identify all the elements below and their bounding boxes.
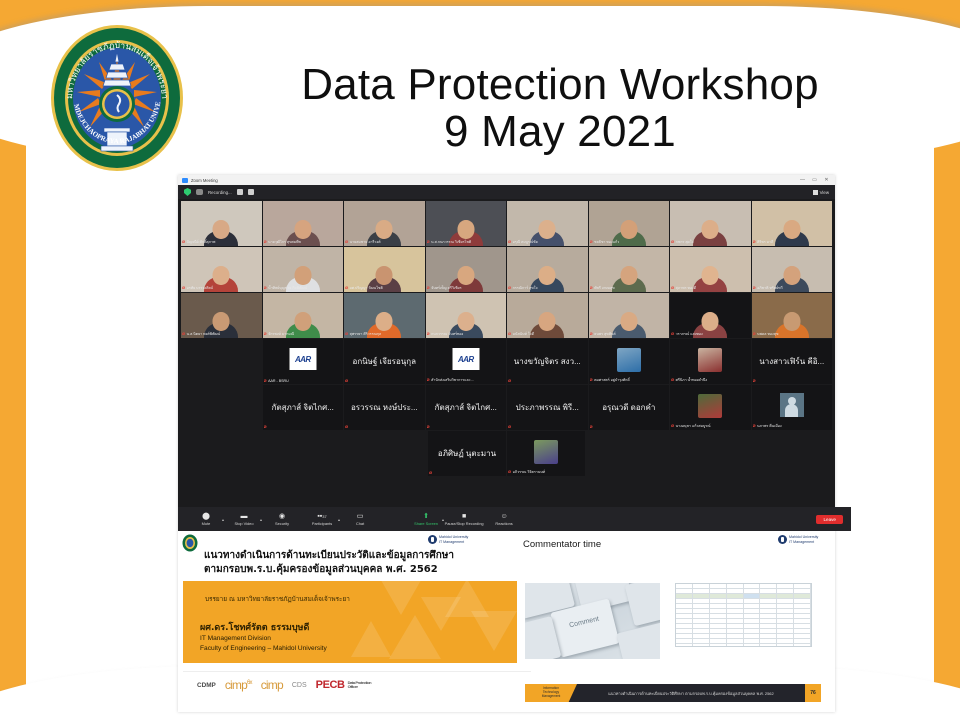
participant-name-label: Øสุพรรษา ศิริวรรณกุล — [345, 331, 424, 337]
participant-name-label: Øปัญจนีย์ ศักดิ์สุภาพ — [182, 239, 261, 245]
spreadsheet-cell — [676, 629, 693, 633]
spreadsheet-cell — [727, 619, 744, 623]
participant-name-text: สุภาพร ทองดี — [676, 285, 697, 291]
muted-microphone-icon: Ø — [753, 240, 756, 244]
participant-name-label: Øนางอนุชา แก้วสมบูรณ์ — [671, 423, 750, 429]
participant-name-label: Ø — [264, 425, 343, 429]
participant-tile[interactable]: Øนางอนุชา แก้วสมบูรณ์ — [670, 385, 751, 430]
spreadsheet-cell — [777, 599, 794, 603]
participant-name-label: Ø — [429, 471, 505, 475]
participant-head — [702, 220, 719, 239]
participant-head — [702, 266, 719, 285]
spreadsheet-cell — [794, 594, 811, 598]
spreadsheet-cell — [710, 619, 727, 623]
participant-head — [457, 220, 474, 239]
spreadsheet-cell — [777, 614, 794, 618]
participant-display-name: นางสาวเฟิร์น คีอิ... — [752, 339, 833, 384]
participant-name-text: นพดล ทองสุข — [757, 331, 778, 337]
spreadsheet-cell — [760, 589, 777, 593]
muted-microphone-icon: Ø — [427, 425, 430, 429]
window-title-bar: Zoom Meeting — ▭ ✕ — [178, 175, 835, 185]
spreadsheet-cell — [693, 609, 710, 613]
participant-tile[interactable]: Øศรีนิภา น้ำทองคำนึง — [670, 339, 751, 384]
participant-name-label: Ø — [590, 425, 669, 429]
mahidol-logo-text: Mahidol University IT Management — [439, 535, 468, 544]
spreadsheet-cell — [777, 624, 794, 628]
thai-heading-line-1: แนวทางดำเนินการด้านทะเบียนประวัติและข้อม… — [204, 548, 454, 563]
zoom-toolbar: ⬤Mute▴▬Stop Video▴◉Security▪▪37Participa… — [178, 507, 851, 531]
spreadsheet-cell — [744, 609, 761, 613]
participant-tile[interactable]: Øกรรณิการ์ สุขใจ — [507, 247, 588, 292]
participant-tile[interactable]: นางขวัญจิตร สงว...Ø — [507, 339, 588, 384]
participant-name-label: Øนายสมชาย อารีวงศ์ — [345, 239, 424, 245]
muted-microphone-icon: Ø — [590, 425, 593, 429]
aar-logo-icon: AAR — [289, 348, 316, 370]
shield-icon: ◉ — [279, 513, 285, 520]
participant-tile[interactable]: อกนิษฐ์ เจียรอนุกุลØ — [344, 339, 425, 384]
participant-tile[interactable] — [181, 339, 262, 384]
spreadsheet-cell — [744, 639, 761, 643]
document-header: Mahidol University IT Management Mahidol… — [178, 531, 835, 577]
stop-recording-button[interactable] — [248, 189, 254, 195]
view-label: View — [820, 190, 829, 195]
shared-document-area: Mahidol University IT Management Mahidol… — [178, 531, 835, 712]
minimize-button[interactable]: — — [798, 177, 807, 183]
reactions-icon: ☺ — [500, 513, 507, 520]
footer-center-text: แนวทางดำเนินการด้านทะเบียนประวัติศึกษา ต… — [577, 690, 805, 697]
participant-name-text: AAR - BSRU — [268, 379, 289, 383]
participant-name-label: Øน้ำทิพย์บุญช่วย กิจพิพัฒน์ — [264, 285, 343, 291]
participant-tile[interactable]: Øจันทร์เพ็ญ ศรีวิเชียร — [426, 247, 507, 292]
pause-recording-button[interactable] — [237, 189, 243, 195]
spreadsheet-cell — [794, 599, 811, 603]
participant-head — [539, 312, 556, 331]
participant-name-label: Øอภิวรรณ วิจิตรานนท์ — [508, 469, 584, 475]
spreadsheet-cell — [760, 634, 777, 638]
participant-tile[interactable]: Øนพดล ทองสุข — [752, 293, 833, 338]
spreadsheet-cell — [710, 634, 727, 638]
participant-grid-row: AARØAAR - BSRUอกนิษฐ์ เจียรอนุกุลØAARØสำ… — [181, 339, 832, 384]
muted-microphone-icon: Ø — [508, 332, 511, 336]
spreadsheet-cell — [676, 594, 693, 598]
spreadsheet-cell — [777, 639, 794, 643]
participant-name-text: กชกร สุดใจ — [676, 239, 694, 245]
participant-tile[interactable]: Øพัชรี เกษมสุข — [589, 247, 670, 292]
spreadsheet-cell — [710, 639, 727, 643]
toolbar-chat-button[interactable]: ▭Chat — [340, 513, 380, 526]
muted-microphone-icon: Ø — [671, 240, 674, 244]
participant-head — [376, 312, 393, 331]
spreadsheet-cell — [676, 599, 693, 603]
participant-name-label: Øชลธิชา ทองแก้ว — [590, 239, 669, 245]
toolbar-item-label: Mute — [202, 521, 211, 526]
participant-head — [620, 312, 637, 331]
participant-head — [620, 266, 637, 285]
participant-display-name: นางขวัญจิตร สงว... — [507, 339, 588, 384]
muted-microphone-icon: Ø — [182, 240, 185, 244]
toolbar-item-label: Security — [275, 521, 289, 526]
commentator-time-label: Commentator time — [523, 539, 601, 550]
spreadsheet-cell — [676, 639, 693, 643]
spreadsheet-cell — [676, 619, 693, 623]
participant-tile[interactable]: Øคมศาสตร์ อยู่บำรุงศักดิ์ — [589, 339, 670, 384]
spreadsheet-cell — [693, 599, 710, 603]
participant-tile[interactable]: อรวรรณ หงษ์ประ...Ø — [344, 385, 425, 430]
participant-head — [783, 312, 800, 331]
participant-grid-row: Øอรทัย บรรจงศิลป์Øน้ำทิพย์บุญช่วย กิจพิพ… — [181, 247, 832, 292]
participant-head — [457, 312, 474, 331]
university-seal-small-icon — [182, 534, 198, 552]
spreadsheet-cell — [693, 614, 710, 618]
participant-name-label: Øผศ.ปริญญา วัฒนโชติ — [345, 285, 424, 291]
muted-microphone-icon: Ø — [264, 425, 267, 429]
participant-name-text: สำนักส่งเสริมวิชาการและ... — [431, 377, 474, 383]
toolbar-mute-button[interactable]: ⬤Mute — [186, 513, 226, 526]
spreadsheet-cell — [777, 609, 794, 613]
toolbar-security-button[interactable]: ◉Security — [262, 513, 302, 526]
spreadsheet-cell — [777, 594, 794, 598]
spreadsheet-cell — [676, 624, 693, 628]
spreadsheet-cell — [727, 634, 744, 638]
muted-microphone-icon: Ø — [264, 332, 267, 336]
spreadsheet-cell — [710, 624, 727, 628]
spreadsheet-cell — [710, 629, 727, 633]
toolbar-reactions-button[interactable]: ☺Reactions — [484, 513, 524, 526]
spreadsheet-cell — [710, 604, 727, 608]
mahidol-emblem-icon-right — [778, 535, 787, 544]
spreadsheet-cell — [693, 624, 710, 628]
participant-tile[interactable]: Øอภิวรรณ วิจิตรานนท์ — [507, 431, 585, 476]
participant-tile[interactable]: Øน.ส.นิตยา พงศ์พิพัฒน์ — [181, 293, 262, 338]
participant-name-label: Øอรุณี สมบูรณ์ชัย — [508, 239, 587, 245]
muted-microphone-icon: Ø — [427, 332, 430, 336]
participant-name-text: อรทัย บรรจงศิลป์ — [187, 285, 213, 291]
spreadsheet-cell — [794, 584, 811, 588]
muted-microphone-icon: Ø — [590, 332, 593, 336]
title-line-1: Data Protection Workshop — [210, 62, 910, 109]
zoom-top-bar: Recording... View — [178, 185, 835, 199]
participant-name-text: น.ส.กนกวรรณ วิเชียรโชติ — [431, 239, 471, 245]
muted-microphone-icon: Ø — [345, 379, 348, 383]
spreadsheet-cell — [760, 629, 777, 633]
muted-microphone-icon: Ø — [671, 378, 674, 382]
cert-logo-pecb: PECBData ProtectionOfficer — [316, 679, 372, 691]
spreadsheet-cell — [693, 584, 710, 588]
participant-avatar — [534, 440, 558, 464]
participant-name-text: ชลธิชา ทองแก้ว — [594, 239, 619, 245]
participant-tile[interactable]: กัตสุภาส์ จิตไกศ...Ø — [263, 385, 344, 430]
participant-avatar — [698, 394, 722, 418]
participant-tile[interactable]: Øชลธิชา ทองแก้ว — [589, 201, 670, 246]
recording-label: Recording... — [208, 190, 232, 195]
participant-display-name: อภิศิษฏ์ นุตะมาน — [428, 431, 506, 476]
speaker-name: ผศ.ดร.โชทศ์รัตต ธรรมบุษดี — [200, 620, 309, 634]
participant-tile[interactable]: Øผศ.ปริญญา วัฒนโชติ — [344, 247, 425, 292]
participant-name-text: กนกวรรณ จันทร์ทอง — [431, 331, 463, 337]
participant-name-label: Øน.ส.นิตยา พงศ์พิพัฒน์ — [182, 331, 261, 337]
mahidol-logo-text-right: Mahidol University IT Management — [789, 535, 818, 544]
presentation-slide: มหาวิทยาลัยราชภัฏบ้านสมเด็จเจ้าพระยา BAN… — [0, 0, 960, 720]
share-screen-icon: ⬆ — [423, 513, 429, 520]
muted-microphone-icon: Ø — [345, 240, 348, 244]
spreadsheet-thumbnail — [675, 583, 812, 647]
it-management-badge-text: Information Technology Management — [542, 687, 561, 698]
muted-microphone-icon: Ø — [345, 286, 348, 290]
participant-name-label: Øศรีนิภา น้ำทองคำนึง — [671, 377, 750, 383]
spreadsheet-cell — [693, 589, 710, 593]
participant-display-name: กัตสุภาส์ จิตไกศ... — [426, 385, 507, 430]
spreadsheet-cell — [777, 604, 794, 608]
participant-tile[interactable]: Øน้ำทิพย์บุญช่วย กิจพิพัฒน์ — [263, 247, 344, 292]
spreadsheet-cell — [727, 584, 744, 588]
participant-name-label: Øธนพร สุขสันต์ — [590, 331, 669, 337]
zoom-app-icon — [182, 178, 188, 183]
participant-name-label: Øพัชรี เกษมสุข — [590, 285, 669, 291]
participant-grid-last-row: อภิศิษฏ์ นุตะมานØØอภิวรรณ วิจิตรานนท์ — [178, 431, 835, 476]
participant-tile[interactable]: Øวราภรณ์ แสงทอง — [670, 293, 751, 338]
participant-name-text: นายวุฒิไกร สุขสมพืช — [268, 239, 301, 245]
participant-tile[interactable]: นางสาวเฟิร์น คีอิ...Ø — [752, 339, 833, 384]
spreadsheet-cell — [693, 604, 710, 608]
participant-tile[interactable]: Øน.ส.กนกวรรณ วิเชียรโชติ — [426, 201, 507, 246]
participant-name-text: นภาพร คืนเมือง — [757, 423, 782, 429]
muted-microphone-icon: Ø — [182, 332, 185, 336]
participant-name-label: Øนพดล ทองสุข — [753, 331, 832, 337]
mahidol-logo-right: Mahidol University IT Management — [778, 535, 818, 544]
muted-microphone-icon: Ø — [345, 332, 348, 336]
spreadsheet-cell — [760, 609, 777, 613]
muted-microphone-icon: Ø — [753, 332, 756, 336]
toolbar-item-label: Pause/Stop Recording — [445, 521, 484, 526]
cert-logo-cds: CDS — [292, 682, 307, 689]
cert-logo-cdmp: CDMP — [197, 682, 216, 689]
mahidol-logo-center: Mahidol University IT Management — [428, 535, 468, 544]
participant-name-label: Øกรรณิการ์ สุขใจ — [508, 285, 587, 291]
spreadsheet-cell — [693, 634, 710, 638]
participant-tile[interactable]: Øสุพรรษา ศิริวรรณกุล — [344, 293, 425, 338]
grid-view-icon — [813, 190, 818, 195]
muted-microphone-icon: Ø — [508, 286, 511, 290]
thai-heading-line-2: ตามกรอบพ.ร.บ.คุ้มครองข้อมูลส่วนบุคคล พ.ศ… — [204, 562, 438, 577]
spreadsheet-cell — [693, 629, 710, 633]
speaker-org-line-1: IT Management Division — [200, 635, 271, 642]
participant-tile[interactable]: Øสุภาพร ทองดี — [670, 247, 751, 292]
toolbar-item-label: Stop Video — [235, 521, 254, 526]
toolbar-participants-button[interactable]: ▪▪37Participants — [302, 513, 342, 526]
participant-tile[interactable]: Øนภาพร คืนเมือง — [752, 385, 833, 430]
spreadsheet-cell — [744, 629, 761, 633]
spreadsheet-cell — [710, 644, 727, 647]
participant-head — [783, 266, 800, 285]
spreadsheet-cell — [710, 599, 727, 603]
participant-head — [376, 266, 393, 285]
participant-head — [539, 266, 556, 285]
spreadsheet-cell — [794, 629, 811, 633]
participant-grid-row: Øน.ส.นิตยา พงศ์พิพัฒน์Øจักรพงษ์ มากมณีØส… — [181, 293, 832, 338]
muted-microphone-icon: Ø — [427, 286, 430, 290]
participant-name-text: มนัสนันท์ ใจดี — [513, 331, 535, 337]
spreadsheet-row — [676, 644, 811, 647]
participant-name-label: Ø — [508, 425, 587, 429]
participant-tile[interactable]: Øอภิชาติ ทรัพย์ทวี — [752, 247, 833, 292]
spreadsheet-cell — [760, 604, 777, 608]
spreadsheet-cell — [676, 589, 693, 593]
muted-microphone-icon: Ø — [429, 471, 432, 475]
spreadsheet-cell — [777, 634, 794, 638]
spreadsheet-cell — [710, 614, 727, 618]
muted-microphone-icon: Ø — [508, 240, 511, 244]
people-icon: ▪▪37 — [317, 513, 326, 520]
spreadsheet-cell — [693, 594, 710, 598]
participant-head — [294, 266, 311, 285]
spreadsheet-cell — [727, 629, 744, 633]
participant-tile[interactable]: Øมนัสนันท์ ใจดี — [507, 293, 588, 338]
participant-name-label: Øวราภรณ์ แสงทอง — [671, 331, 750, 337]
participant-head — [376, 220, 393, 239]
participant-tile[interactable]: Øกนกวรรณ จันทร์ทอง — [426, 293, 507, 338]
participant-display-name: อรวรรณ หงษ์ประ... — [344, 385, 425, 430]
toolbar-stop-video-button[interactable]: ▬Stop Video — [224, 513, 264, 526]
participant-tile[interactable]: Øจักรพงษ์ มากมณี — [263, 293, 344, 338]
spreadsheet-cell — [794, 609, 811, 613]
spreadsheet-cell — [710, 609, 727, 613]
spreadsheet-cell — [693, 619, 710, 623]
toolbar-share-screen-button[interactable]: ⬆Share Screen — [406, 513, 446, 526]
close-button[interactable]: ✕ — [822, 177, 831, 183]
certification-logo-strip: CDMPcimp6xcimpCDSPECBData ProtectionOffi… — [183, 671, 531, 698]
participant-name-label: ØAAR - BSRU — [264, 379, 343, 383]
muted-microphone-icon: Ø — [671, 332, 674, 336]
muted-microphone-icon: Ø — [264, 286, 267, 290]
spreadsheet-cell — [794, 604, 811, 608]
spreadsheet-cell — [760, 644, 777, 647]
spreadsheet-cell — [794, 644, 811, 647]
spreadsheet-cell — [727, 609, 744, 613]
participant-name-label: Øอภิชาติ ทรัพย์ทวี — [753, 285, 832, 291]
spreadsheet-cell — [744, 594, 761, 598]
muted-microphone-icon: Ø — [508, 425, 511, 429]
participant-name-text: นางอนุชา แก้วสมบูรณ์ — [676, 423, 711, 429]
participant-tile[interactable]: Øศิริพร มาลี — [752, 201, 833, 246]
participant-name-label: Øจันทร์เพ็ญ ศรีวิเชียร — [427, 285, 506, 291]
spreadsheet-cell — [777, 584, 794, 588]
spreadsheet-cell — [676, 634, 693, 638]
video-camera-icon: ▬ — [241, 513, 248, 520]
participant-name-text: สุพรรษา ศิริวรรณกุล — [350, 331, 382, 337]
participant-name-text: อภิชาติ ทรัพย์ทวี — [757, 285, 782, 291]
maximize-button[interactable]: ▭ — [810, 177, 819, 183]
muted-microphone-icon: Ø — [590, 378, 593, 382]
spreadsheet-cell — [676, 644, 693, 647]
toolbar-item-label: Chat — [356, 521, 364, 526]
participant-name-label: Øอรทัย บรรจงศิลป์ — [182, 285, 261, 291]
participant-head — [294, 220, 311, 239]
participant-head — [213, 266, 230, 285]
spreadsheet-cell — [727, 594, 744, 598]
speaker-org-line-2: Faculty of Engineering – Mahidol Univers… — [200, 645, 327, 652]
participant-name-text: น.ส.นิตยา พงศ์พิพัฒน์ — [187, 331, 220, 337]
muted-microphone-icon: Ø — [427, 240, 430, 244]
participant-name-label: Ø — [345, 379, 424, 383]
participant-name-label: Øสุภาพร ทองดี — [671, 285, 750, 291]
encryption-shield-icon[interactable] — [184, 188, 191, 196]
participant-tile[interactable]: กัตสุภาส์ จิตไกศ...Ø — [426, 385, 507, 430]
speaker-title-card: บรรยาย ณ มหาวิทยาลัยราชภัฏบ้านสมเด็จเจ้า… — [183, 581, 517, 663]
participant-name-text: ธนพร สุขสันต์ — [594, 331, 616, 337]
spreadsheet-cell — [760, 639, 777, 643]
participant-name-label: Øจักรพงษ์ มากมณี — [264, 331, 343, 337]
venue-line: บรรยาย ณ มหาวิทยาลัยราชภัฏบ้านสมเด็จเจ้า… — [205, 594, 350, 604]
cert-logo-cimp: cimp6x — [225, 678, 252, 692]
muted-microphone-icon: Ø — [753, 286, 756, 290]
spreadsheet-cell — [777, 619, 794, 623]
spreadsheet-cell — [760, 619, 777, 623]
participant-name-label: Ø — [345, 425, 424, 429]
spreadsheet-cell — [744, 614, 761, 618]
participant-name-label: Øสำนักส่งเสริมวิชาการและ... — [427, 377, 506, 383]
participant-tile[interactable]: AARØAAR - BSRU — [263, 339, 344, 384]
cert-logo-cimp: cimp — [261, 678, 283, 692]
participant-tile[interactable]: Øปัญจนีย์ ศักดิ์สุภาพ — [181, 201, 262, 246]
participant-tile[interactable]: Øกชกร สุดใจ — [670, 201, 751, 246]
participant-tile[interactable]: AARØสำนักส่งเสริมวิชาการและ... — [426, 339, 507, 384]
participant-tile[interactable]: Øนายสมชาย อารีวงศ์ — [344, 201, 425, 246]
participant-tile[interactable]: Øนายวุฒิไกร สุขสมพืช — [263, 201, 344, 246]
participant-name-text: นายสมชาย อารีวงศ์ — [350, 239, 381, 245]
spreadsheet-cell — [777, 589, 794, 593]
spreadsheet-cell — [760, 599, 777, 603]
participant-head — [783, 220, 800, 239]
participant-tile[interactable]: Øธนพร สุขสันต์ — [589, 293, 670, 338]
participant-count-badge: 37 — [322, 514, 326, 519]
spreadsheet-cell — [744, 634, 761, 638]
participant-name-text: จักรพงษ์ มากมณี — [268, 331, 294, 337]
muted-microphone-icon: Ø — [264, 379, 267, 383]
spreadsheet-cell — [676, 604, 693, 608]
recording-icon — [196, 189, 203, 195]
participant-tile[interactable]: อรุณวดี ดอกคำØ — [589, 385, 670, 430]
spreadsheet-cell — [760, 594, 777, 598]
participant-tile[interactable] — [181, 385, 262, 430]
participant-name-text: ศิริพร มาลี — [757, 239, 773, 245]
participant-name-text: พัชรี เกษมสุข — [594, 285, 615, 291]
it-management-badge: Information Technology Management — [525, 684, 577, 702]
spreadsheet-cell — [676, 609, 693, 613]
footer-page-number: 76 — [805, 684, 821, 702]
spreadsheet-cell — [744, 604, 761, 608]
participant-grid: Øปัญจนีย์ ศักดิ์สุภาพØนายวุฒิไกร สุขสมพื… — [178, 199, 835, 430]
spreadsheet-cell — [794, 619, 811, 623]
leave-button[interactable]: Leave — [816, 515, 843, 524]
participant-name-text: ปัญจนีย์ ศักดิ์สุภาพ — [187, 239, 216, 245]
spreadsheet-cell — [794, 589, 811, 593]
toolbar-pause-stop-recording-button[interactable]: ■Pause/Stop Recording — [444, 513, 484, 526]
participant-head — [702, 312, 719, 331]
participant-tile[interactable]: Øอรทัย บรรจงศิลป์ — [181, 247, 262, 292]
view-button[interactable]: View — [813, 190, 829, 195]
participant-name-label: Øกชกร สุดใจ — [671, 239, 750, 245]
participant-tile[interactable]: อภิศิษฏ์ นุตะมานØ — [428, 431, 506, 476]
participant-tile[interactable]: Øอรุณี สมบูรณ์ชัย — [507, 201, 588, 246]
participant-name-label: Øคมศาสตร์ อยู่บำรุงศักดิ์ — [590, 377, 669, 383]
spreadsheet-cell — [760, 624, 777, 628]
pecb-subtitle: Data ProtectionOfficer — [348, 681, 372, 690]
chat-bubble-icon: ▭ — [357, 513, 364, 520]
muted-microphone-icon: Ø — [671, 286, 674, 290]
spreadsheet-cell — [794, 624, 811, 628]
spreadsheet-cell — [727, 644, 744, 647]
participant-tile[interactable]: ประภาพรรณ พิรี...Ø — [507, 385, 588, 430]
